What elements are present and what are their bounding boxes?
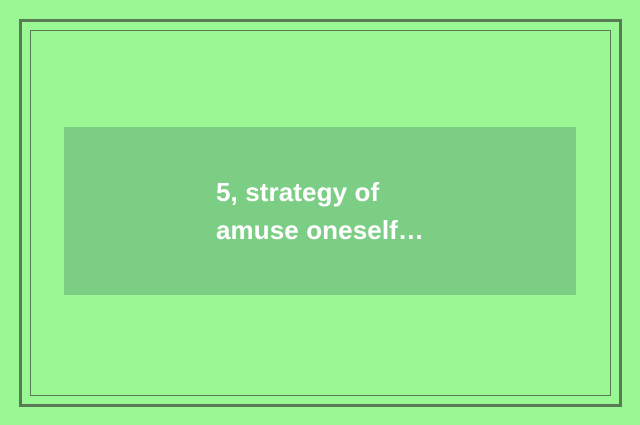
quote-panel: 5, strategy of amuse oneself…	[64, 127, 576, 295]
quote-text-block: 5, strategy of amuse oneself…	[216, 173, 424, 249]
quote-line-2: amuse oneself…	[216, 211, 424, 249]
quote-card: 5, strategy of amuse oneself…	[0, 0, 640, 425]
quote-line-1: 5, strategy of	[216, 173, 424, 211]
